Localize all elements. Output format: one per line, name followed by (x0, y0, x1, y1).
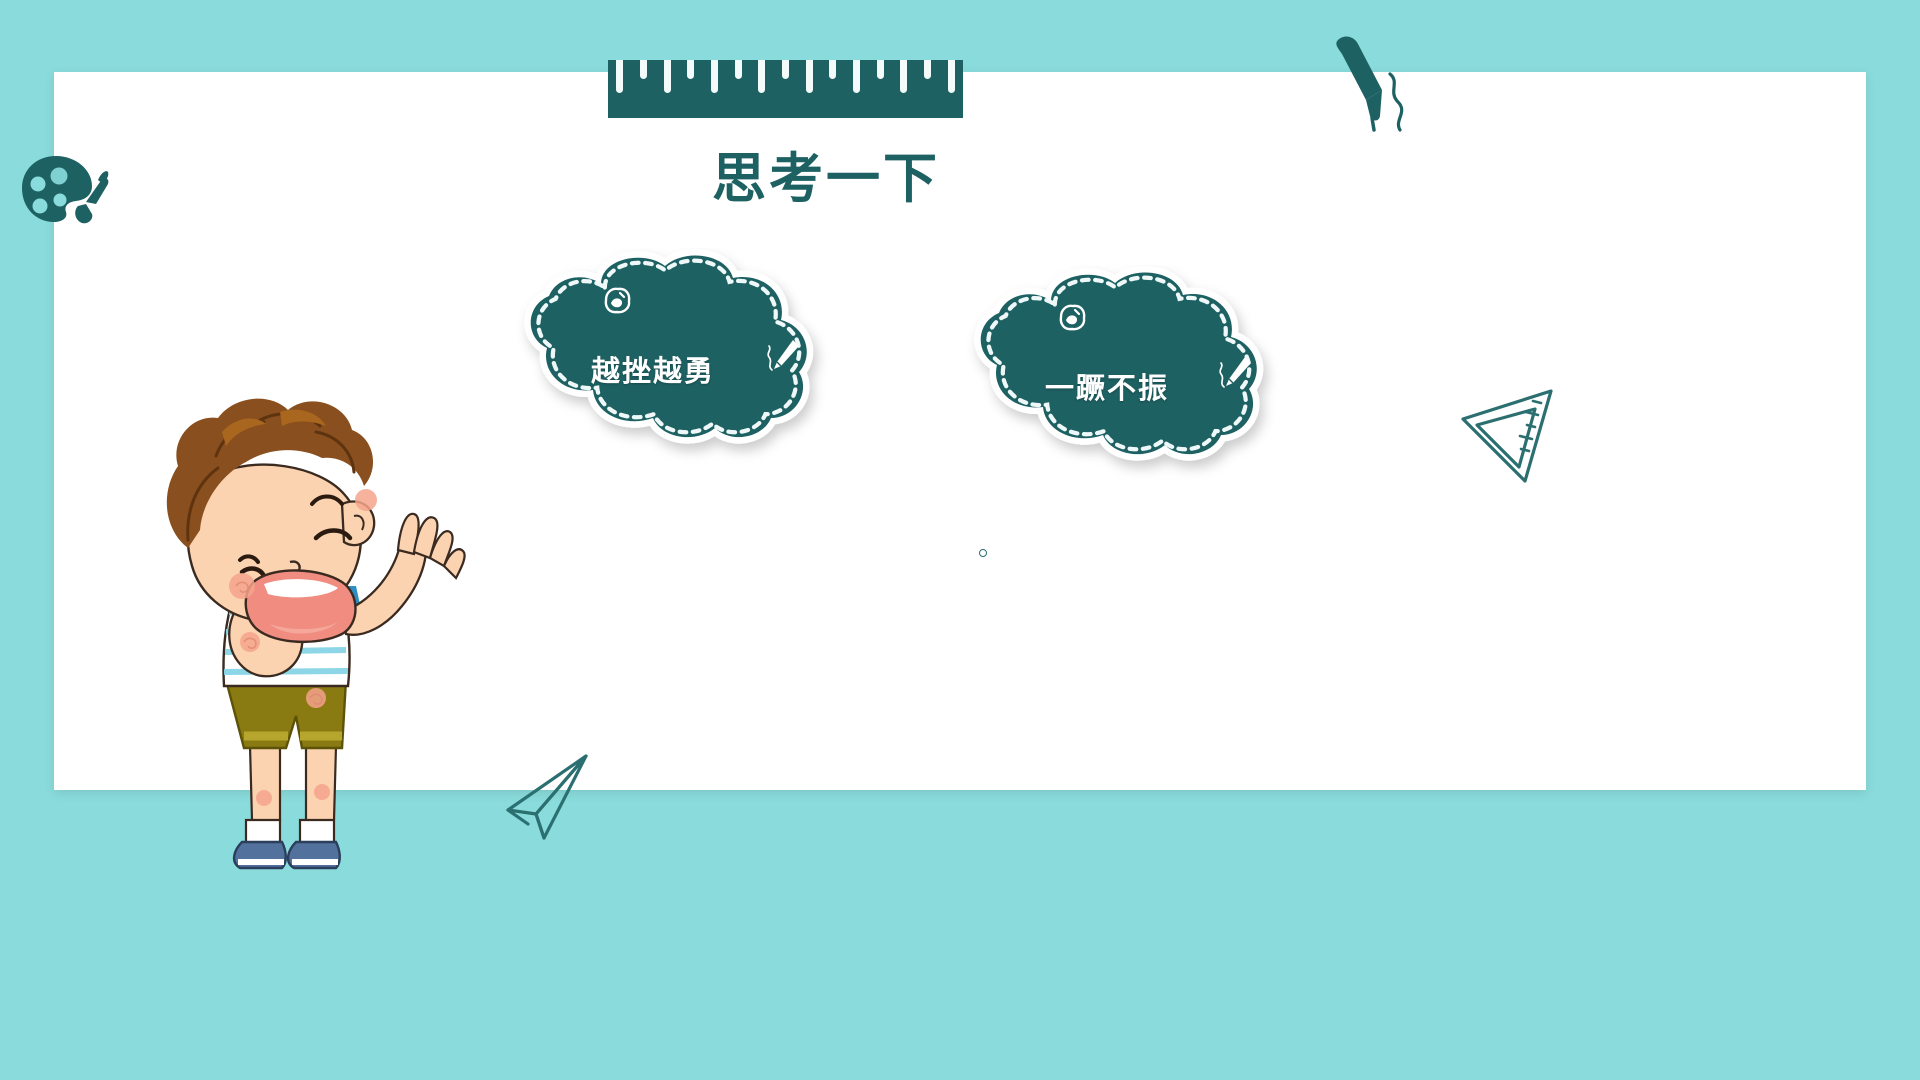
option-cloud-left[interactable]: 越挫越勇 (505, 248, 835, 463)
ruler-tick (616, 60, 623, 93)
thought-badge-icon (1055, 301, 1089, 335)
ruler-tick (924, 60, 931, 79)
ruler-tick (900, 60, 907, 93)
ruler-tick (853, 60, 860, 93)
fountain-pen-icon (1215, 353, 1255, 397)
ruler-tick (829, 60, 836, 79)
ruler-tick (711, 60, 718, 93)
ruler-ticks (608, 60, 963, 118)
ruler-tick (664, 60, 671, 93)
ruler-tick (687, 60, 694, 79)
ruler-tick (948, 60, 955, 93)
paper-airplane-icon (498, 752, 598, 847)
paint-palette-icon (18, 148, 110, 233)
thought-badge-icon (600, 284, 634, 318)
ruler-tick (782, 60, 789, 79)
slide-canvas: 思考一下 (0, 0, 1920, 1080)
small-circle-icon (979, 549, 987, 557)
ruler-tick (806, 60, 813, 93)
option-cloud-right[interactable]: 一蹶不振 (955, 265, 1285, 480)
ruler-tick (758, 60, 765, 93)
ruler-tick (877, 60, 884, 79)
fountain-pen-icon (1320, 30, 1420, 145)
fountain-pen-icon (763, 336, 803, 380)
triangle-ruler-icon (1455, 385, 1560, 490)
ruler-tick (640, 60, 647, 79)
ruler-icon (608, 60, 963, 118)
page-title: 思考一下 (0, 134, 1786, 213)
ruler-tick (735, 60, 742, 79)
cartoon-boy-laughing (130, 380, 490, 880)
